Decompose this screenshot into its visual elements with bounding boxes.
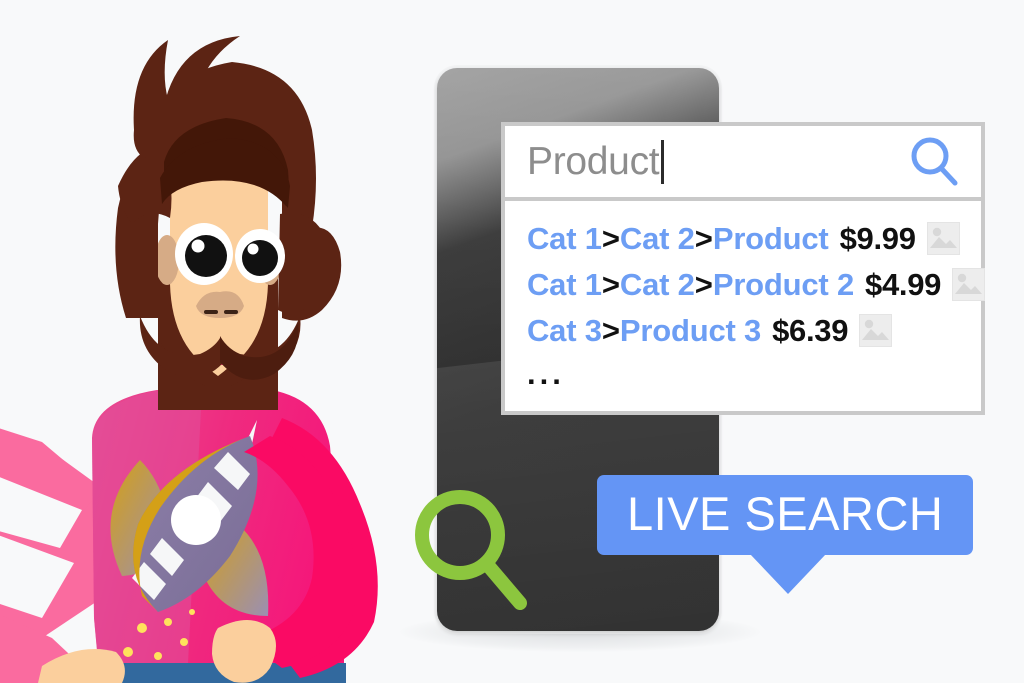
illustration-canvas: Product Cat 1 > Cat 2 > Product $9.99 bbox=[0, 0, 1024, 683]
result-crumb[interactable]: Cat 1 bbox=[527, 269, 602, 300]
callout-tail bbox=[750, 554, 826, 594]
result-price: $6.39 bbox=[772, 315, 848, 346]
list-item[interactable]: Cat 3 > Product 3 $6.39 bbox=[527, 307, 961, 353]
mustache-man-character bbox=[0, 18, 402, 683]
search-input-text-wrap: Product bbox=[527, 140, 907, 184]
result-crumb[interactable]: Cat 2 bbox=[620, 269, 695, 300]
search-input[interactable]: Product bbox=[527, 142, 659, 181]
list-item[interactable]: Cat 1 > Cat 2 > Product 2 $4.99 bbox=[527, 261, 961, 307]
crumb-separator: > bbox=[602, 269, 620, 300]
live-search-widget: Product Cat 1 > Cat 2 > Product $9.99 bbox=[501, 122, 985, 415]
search-input-box[interactable]: Product bbox=[501, 122, 985, 201]
search-icon-decorative bbox=[414, 487, 532, 621]
crumb-separator: > bbox=[695, 269, 713, 300]
result-price: $9.99 bbox=[840, 223, 916, 254]
text-caret bbox=[661, 140, 664, 184]
crumb-separator: > bbox=[695, 223, 713, 254]
result-crumb[interactable]: Cat 2 bbox=[620, 223, 695, 254]
list-item[interactable]: Cat 1 > Cat 2 > Product $9.99 bbox=[527, 215, 961, 261]
search-icon[interactable] bbox=[907, 134, 963, 190]
crumb-separator: > bbox=[602, 223, 620, 254]
result-title[interactable]: Product 3 bbox=[620, 315, 761, 346]
result-crumb[interactable]: Cat 1 bbox=[527, 223, 602, 254]
result-price: $4.99 bbox=[865, 269, 941, 300]
search-results-dropdown: Cat 1 > Cat 2 > Product $9.99 Cat 1 > Ca… bbox=[501, 201, 985, 415]
image-placeholder-icon bbox=[859, 314, 892, 347]
crumb-separator: > bbox=[602, 315, 620, 346]
result-title[interactable]: Product bbox=[713, 223, 829, 254]
result-title[interactable]: Product 2 bbox=[713, 269, 854, 300]
more-results-indicator[interactable]: ... bbox=[527, 353, 961, 393]
live-search-callout: LIVE SEARCH bbox=[597, 475, 973, 555]
live-search-label: LIVE SEARCH bbox=[597, 475, 973, 555]
result-crumb[interactable]: Cat 3 bbox=[527, 315, 602, 346]
image-placeholder-icon bbox=[927, 222, 960, 255]
image-placeholder-icon bbox=[952, 268, 985, 301]
